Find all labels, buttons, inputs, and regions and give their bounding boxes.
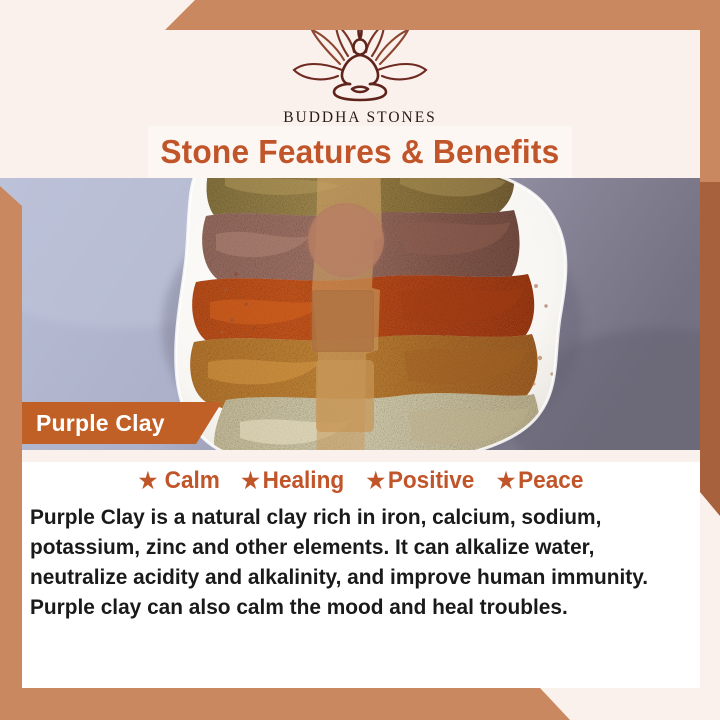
frame-left-band bbox=[0, 178, 22, 690]
page-title: Stone Features & Benefits bbox=[160, 133, 559, 171]
benefit-item-positive: ★ Positive bbox=[367, 467, 475, 495]
frame-bottom-band bbox=[0, 688, 720, 720]
star-icon: ★ bbox=[241, 470, 260, 492]
benefits-row: ★ Calm ★ Healing ★ Positive ★ Peace bbox=[22, 462, 700, 500]
content-panel: ★ Calm ★ Healing ★ Positive ★ Peace Purp… bbox=[22, 450, 700, 688]
benefit-label: Healing bbox=[263, 467, 344, 495]
star-icon: ★ bbox=[138, 470, 157, 492]
content-top-tint bbox=[22, 450, 700, 462]
star-icon: ★ bbox=[497, 470, 516, 492]
stone-name-label: Purple Clay bbox=[36, 410, 165, 437]
benefit-item-calm: ★ Calm bbox=[138, 467, 219, 495]
lotus-meditation-icon bbox=[282, 22, 438, 107]
benefit-label: Calm bbox=[164, 467, 219, 495]
benefit-label: Peace bbox=[518, 467, 583, 495]
brand-logo: BUDDHA STONES bbox=[0, 22, 720, 127]
benefit-label: Positive bbox=[388, 467, 475, 495]
stone-name-badge: Purple Clay bbox=[0, 402, 222, 444]
benefit-item-peace: ★ Peace bbox=[497, 467, 584, 495]
brand-name: BUDDHA STONES bbox=[0, 109, 720, 127]
title-banner: Stone Features & Benefits bbox=[148, 126, 572, 178]
stone-features-poster: BUDDHA STONES Stone Features & Benefits … bbox=[0, 0, 720, 720]
stone-description: Purple Clay is a natural clay rich in ir… bbox=[30, 502, 672, 622]
lotus-meditation-glyph bbox=[282, 22, 438, 102]
star-icon: ★ bbox=[367, 470, 386, 492]
frame-right-top-band bbox=[700, 0, 720, 182]
benefit-item-healing: ★ Healing bbox=[241, 467, 344, 495]
